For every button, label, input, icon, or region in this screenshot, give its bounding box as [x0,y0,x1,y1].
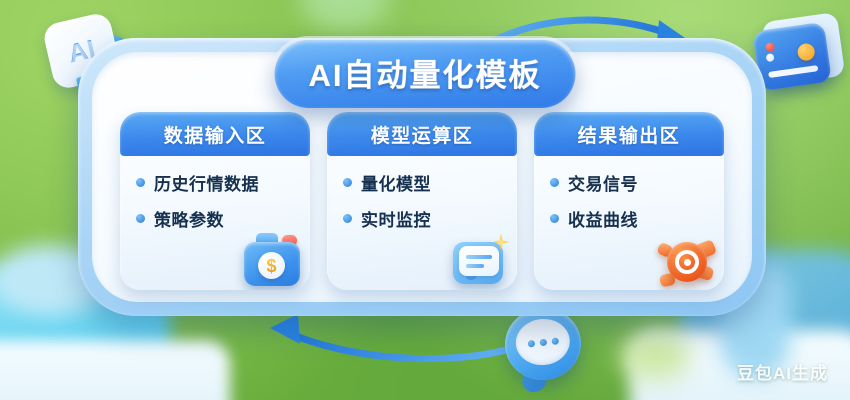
page-title-text: AI自动量化模板 [309,50,542,95]
chat-bubble-typing-icon [501,304,584,384]
card-data-input[interactable]: 数据输入区 历史行情数据 策略参数 $ [120,112,310,290]
target-inner-ring [679,254,695,270]
card-model-compute[interactable]: 模型运算区 量化模型 实时监控 [327,112,517,290]
bullet-dot-icon [550,214,559,223]
list-item[interactable]: 策略参数 [136,206,310,231]
list-item-label: 收益曲线 [568,206,638,231]
typing-dot-3 [551,337,559,345]
target-center-dot [684,259,691,266]
list-item-label: 策略参数 [154,206,224,231]
bullet-dot-icon [136,214,145,223]
background-bokeh-bottom [620,330,690,380]
list-item-label: 实时监控 [361,206,431,231]
card-body-model-compute: 量化模型 实时监控 [327,156,517,231]
typing-dot-1 [527,339,535,347]
watermark: 豆包AI生成 [737,359,828,384]
bullet-dot-icon [550,178,559,187]
id-card-white-dot [766,53,775,62]
bullet-dot-icon [343,178,352,187]
target-bullseye-icon [656,230,718,288]
message-line-2 [466,264,484,268]
card-body-data-input: 历史行情数据 策略参数 [120,156,310,231]
message-line-1 [466,255,492,259]
card-header-label: 模型运算区 [371,121,474,148]
id-card-red-dot [765,42,775,52]
dollar-coin-icon: $ [258,252,285,279]
bullet-dot-icon [136,178,145,187]
message-bubble [459,246,499,276]
bullet-dot-icon [343,214,352,223]
card-body-result-output: 交易信号 收益曲线 [534,156,724,231]
card-result-output[interactable]: 结果输出区 交易信号 收益曲线 [534,112,724,290]
list-item[interactable]: 量化模型 [343,170,517,195]
card-group: 数据输入区 历史行情数据 策略参数 $ 模型运算区 量化模型 [120,112,726,292]
list-item[interactable]: 收益曲线 [550,206,724,231]
target-outer-circle [667,242,707,282]
list-item-label: 量化模型 [361,170,431,195]
message-sparkle-icon [449,230,511,288]
target-white-ring [675,250,699,274]
list-item-label: 交易信号 [568,170,638,195]
list-item[interactable]: 交易信号 [550,170,724,195]
card-header-data-input: 数据输入区 [120,112,310,156]
card-header-model-compute: 模型运算区 [327,112,517,156]
background-object-left-white [0,340,230,400]
card-header-label: 结果输出区 [578,121,681,148]
money-case-dollar-icon: $ [242,230,304,288]
typing-dot-2 [539,338,547,346]
card-header-result-output: 结果输出区 [534,112,724,156]
card-header-label: 数据输入区 [164,121,267,148]
list-item[interactable]: 历史行情数据 [136,170,310,195]
page-title: AI自动量化模板 [275,40,576,108]
list-item-label: 历史行情数据 [154,170,259,195]
list-item[interactable]: 实时监控 [343,206,517,231]
id-card-bar [768,65,818,78]
id-card-orange-dot [797,42,816,61]
target-wrap [662,238,712,284]
